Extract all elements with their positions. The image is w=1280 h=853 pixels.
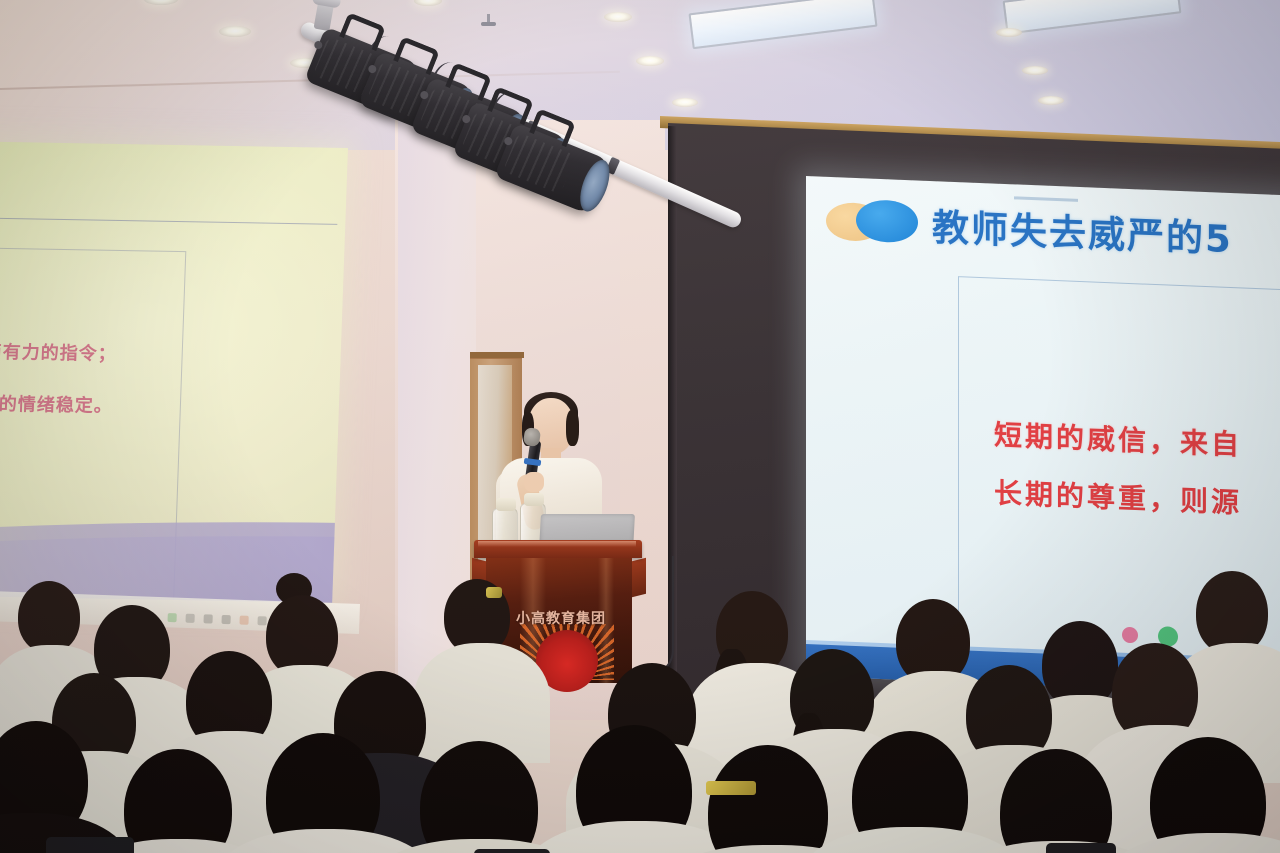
fire-sprinkler-icon (487, 14, 490, 23)
ceiling-downlight (996, 28, 1022, 37)
ceiling-downlight (604, 12, 632, 22)
chair-back (474, 849, 550, 853)
ceiling-downlight (1038, 96, 1064, 105)
bottle-cap (524, 493, 544, 506)
ceiling-downlight (672, 98, 698, 107)
audience-hair-clip (706, 781, 756, 795)
presenter-hand (524, 472, 544, 492)
audience (0, 553, 1280, 853)
door-header (470, 352, 524, 358)
audience-head (18, 581, 80, 653)
bottle-cap (496, 498, 516, 511)
chair-back (1046, 843, 1116, 853)
audience-hair-clip (486, 587, 502, 598)
left-projection-screen: 现 专业+果断+信用+边界+稳定 次言出必行的果断，每一句精简有力的指令； 益精… (0, 138, 348, 602)
chair-back (46, 837, 134, 853)
right-slide-title: 教师失去威严的5 (932, 197, 1233, 263)
ceiling-downlight (1022, 66, 1048, 75)
lecture-hall-photo: 现 专业+果断+信用+边界+稳定 次言出必行的果断，每一句精简有力的指令； 益精… (0, 0, 1280, 853)
presenter-hair-side (566, 410, 579, 446)
ceiling-downlight (636, 56, 664, 66)
podium-top-highlight (478, 541, 636, 547)
ceiling-downlight (219, 26, 251, 37)
